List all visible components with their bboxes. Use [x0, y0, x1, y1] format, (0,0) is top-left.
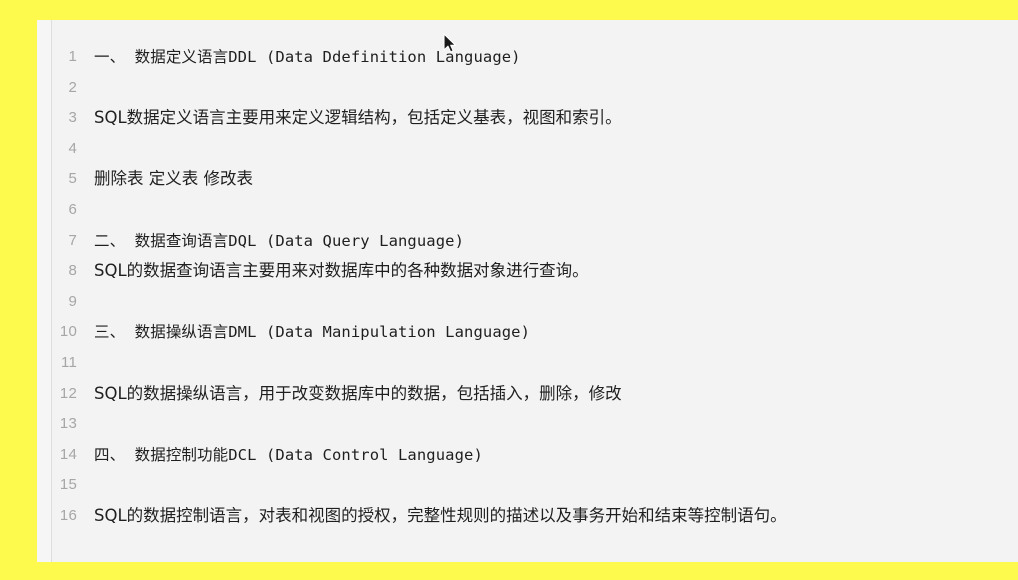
line-number: 7: [37, 226, 77, 257]
text-editor-pane[interactable]: 1一、 数据定义语言DDL (Data Ddefinition Language…: [37, 20, 1018, 562]
editor-line[interactable]: 15: [37, 470, 1018, 501]
editor-line[interactable]: 2: [37, 73, 1018, 104]
line-number: 3: [37, 103, 77, 134]
line-text[interactable]: 删除表 定义表 修改表: [94, 164, 253, 195]
editor-line[interactable]: 1一、 数据定义语言DDL (Data Ddefinition Language…: [37, 42, 1018, 73]
line-number: 5: [37, 164, 77, 195]
line-number: 6: [37, 195, 77, 226]
line-number: 11: [37, 348, 77, 379]
line-text[interactable]: SQL数据定义语言主要用来定义逻辑结构，包括定义基表，视图和索引。: [94, 103, 622, 134]
line-number: 10: [37, 317, 77, 348]
line-number: 9: [37, 287, 77, 318]
line-text[interactable]: SQL的数据查询语言主要用来对数据库中的各种数据对象进行查询。: [94, 256, 589, 287]
line-text[interactable]: 三、 数据操纵语言DML (Data Manipulation Language…: [94, 317, 530, 348]
line-number: 16: [37, 501, 77, 532]
line-number: 12: [37, 379, 77, 410]
screen: 1一、 数据定义语言DDL (Data Ddefinition Language…: [0, 0, 1018, 580]
editor-line[interactable]: 9: [37, 287, 1018, 318]
line-text[interactable]: SQL的数据操纵语言，用于改变数据库中的数据，包括插入，删除，修改: [94, 379, 622, 410]
line-number: 1: [37, 42, 77, 73]
editor-line[interactable]: 7二、 数据查询语言DQL (Data Query Language): [37, 226, 1018, 257]
line-number: 13: [37, 409, 77, 440]
line-text[interactable]: 四、 数据控制功能DCL (Data Control Language): [94, 440, 483, 471]
editor-line[interactable]: 6: [37, 195, 1018, 226]
line-text[interactable]: SQL的数据控制语言，对表和视图的授权，完整性规则的描述以及事务开始和结束等控制…: [94, 501, 787, 532]
line-number: 4: [37, 134, 77, 165]
line-number: 15: [37, 470, 77, 501]
editor-line[interactable]: 12SQL的数据操纵语言，用于改变数据库中的数据，包括插入，删除，修改: [37, 379, 1018, 410]
editor-line[interactable]: 8SQL的数据查询语言主要用来对数据库中的各种数据对象进行查询。: [37, 256, 1018, 287]
line-number: 14: [37, 440, 77, 471]
editor-line[interactable]: 11: [37, 348, 1018, 379]
editor-line[interactable]: 3SQL数据定义语言主要用来定义逻辑结构，包括定义基表，视图和索引。: [37, 103, 1018, 134]
line-text[interactable]: 一、 数据定义语言DDL (Data Ddefinition Language): [94, 42, 521, 73]
line-number: 2: [37, 73, 77, 104]
line-number: 8: [37, 256, 77, 287]
editor-line[interactable]: 10三、 数据操纵语言DML (Data Manipulation Langua…: [37, 317, 1018, 348]
editor-line[interactable]: 13: [37, 409, 1018, 440]
editor-line-list[interactable]: 1一、 数据定义语言DDL (Data Ddefinition Language…: [37, 20, 1018, 562]
editor-line[interactable]: 4: [37, 134, 1018, 165]
editor-line[interactable]: 16SQL的数据控制语言，对表和视图的授权，完整性规则的描述以及事务开始和结束等…: [37, 501, 1018, 532]
editor-line[interactable]: 5删除表 定义表 修改表: [37, 164, 1018, 195]
line-text[interactable]: 二、 数据查询语言DQL (Data Query Language): [94, 226, 464, 257]
editor-line[interactable]: 14四、 数据控制功能DCL (Data Control Language): [37, 440, 1018, 471]
